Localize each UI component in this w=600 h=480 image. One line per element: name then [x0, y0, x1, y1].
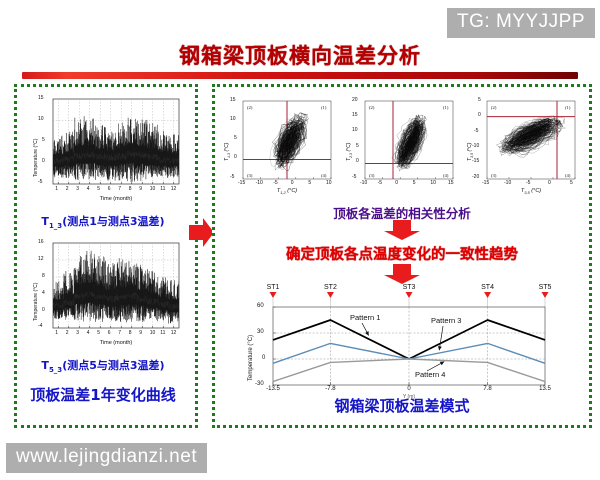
month-tick-10: 10 — [150, 330, 156, 336]
chart1-caption-symbol: T — [41, 215, 49, 228]
month-tick-8: 8 — [129, 186, 132, 192]
scatter3-y-axis-label: T3,5 (°C) — [467, 143, 474, 161]
scatter2-ytick-neg5: -5 — [352, 174, 356, 180]
annotation-pattern-3: Pattern 3 — [431, 316, 461, 325]
svg-text:(2): (2) — [491, 105, 497, 110]
xtick--5: -5 — [378, 180, 382, 186]
scatter1-x-tick-labels: -15-10-50510 — [243, 180, 331, 188]
left-panel-caption: 顶板温差1年变化曲线 — [17, 384, 189, 405]
pattern-xtick-0: 0 — [401, 386, 417, 392]
svg-text:(2): (2) — [247, 105, 253, 110]
pattern-xtick--13.5: -13.5 — [265, 386, 281, 392]
scatter3-ytick-neg5: -5 — [474, 128, 478, 134]
chart1-ytick-15: 15 — [38, 95, 44, 101]
month-tick-5: 5 — [97, 186, 100, 192]
chart1-caption-subscript: 1_3 — [49, 222, 62, 230]
scatter3-x-tick-labels: -15-10-505 — [487, 180, 575, 188]
annotation-pattern-4: Pattern 4 — [415, 370, 445, 379]
pattern-chart-svg: ST1ST2ST3ST4ST5 Pattern 1Pattern 3Patter… — [235, 279, 575, 401]
sensor-marker-icon-st1 — [270, 292, 277, 298]
sensor-label-st3: ST3 — [403, 284, 416, 291]
month-tick-2: 2 — [66, 186, 69, 192]
watermark-telegram: TG: MYYJJPP — [447, 8, 595, 38]
month-tick-7: 7 — [118, 330, 121, 336]
page-title: 钢箱梁顶板横向温差分析 — [0, 40, 600, 70]
timeseries-chart-2: 16 12 8 4 0 -4 Temperature (°C) Time (mo… — [21, 235, 189, 357]
sensor-label-st5: ST5 — [539, 284, 552, 291]
pattern-xtick-13.5: 13.5 — [537, 386, 553, 392]
chart2-ytick-neg4: -4 — [38, 323, 42, 329]
conclusion-text: 确定顶板各点温度变化的一致性趋势 — [215, 243, 589, 264]
sensor-marker-icon-st4 — [484, 292, 491, 298]
pattern-y-axis-label: Temperature (°C) — [248, 335, 254, 381]
chart1-y-axis-label: Temperature (°C) — [33, 139, 39, 177]
chart2-ytick-12: 12 — [38, 256, 44, 262]
chart1-x-tick-labels: 123456789101112 — [53, 186, 179, 195]
pattern-xtick--7.8: -7.8 — [322, 386, 338, 392]
sensor-label-st4: ST4 — [481, 284, 494, 291]
watermark-url: www.lejingdianzi.net — [6, 443, 207, 473]
scatter1-ytick-0: 0 — [234, 154, 237, 160]
chart2-x-axis-label: Time (month) — [53, 340, 179, 346]
scatter1-y-axis-label: T1,3 (°C) — [224, 143, 231, 161]
chart2-caption: T5_3(测点5与测点3温差) — [17, 357, 189, 374]
xtick-0: 0 — [548, 180, 551, 186]
scatter3-x-axis-label: T3,5 (°C) — [487, 188, 575, 195]
xtick--10: -10 — [360, 180, 367, 186]
svg-text:(3): (3) — [491, 173, 497, 178]
chart2-ytick-8: 8 — [42, 273, 45, 279]
sensor-marker-icon-st3 — [406, 292, 413, 298]
month-tick-6: 6 — [108, 330, 111, 336]
xtick-0: 0 — [395, 180, 398, 186]
right-panel-caption: 钢箱梁顶板温差模式 — [215, 395, 589, 416]
chart2-ytick-0: 0 — [42, 307, 45, 313]
month-tick-5: 5 — [97, 330, 100, 336]
sensor-marker-icon-st2 — [327, 292, 334, 298]
scatter-plot-3: (2) (1) (3) (4) 5 0 -5 -10 -15 -20 T3,5 … — [459, 93, 585, 197]
scatter1-x-axis-label: T1,2 (°C) — [243, 188, 331, 195]
chart1-ytick-0: 0 — [42, 158, 45, 164]
svg-text:(2): (2) — [369, 105, 375, 110]
month-tick-4: 4 — [87, 186, 90, 192]
pattern-ytick-0: 0 — [262, 355, 265, 361]
xtick-0: 0 — [291, 180, 294, 186]
chart1-x-axis-label: Time (month) — [53, 196, 179, 202]
month-tick-10: 10 — [150, 186, 156, 192]
flow-arrow-right-icon — [187, 216, 215, 250]
chart1-ytick-5: 5 — [42, 137, 45, 143]
month-tick-6: 6 — [108, 186, 111, 192]
svg-text:(1): (1) — [565, 105, 571, 110]
chart2-ytick-16: 16 — [38, 239, 44, 245]
xtick--10: -10 — [256, 180, 263, 186]
month-tick-8: 8 — [129, 330, 132, 336]
month-tick-9: 9 — [139, 186, 142, 192]
month-tick-3: 3 — [76, 330, 79, 336]
chart1-ytick-10: 10 — [38, 116, 44, 122]
xtick-10: 10 — [430, 180, 436, 186]
xtick-15: 15 — [448, 180, 454, 186]
month-tick-3: 3 — [76, 186, 79, 192]
right-panel: (2) (1) (3) (4) 15 10 5 0 -5 T1,3 (°C) -… — [212, 84, 592, 428]
left-panel: 15 10 5 0 -5 Temperature (°C) Time (mont… — [14, 84, 198, 428]
month-tick-11: 11 — [160, 186, 165, 192]
xtick--5: -5 — [273, 180, 277, 186]
scatter3-ytick-0: 0 — [478, 112, 481, 118]
xtick-5: 5 — [413, 180, 416, 186]
timeseries-chart-1: 15 10 5 0 -5 Temperature (°C) Time (mont… — [21, 91, 189, 213]
svg-text:(4): (4) — [565, 173, 571, 178]
scatter2-ytick-0: 0 — [356, 158, 359, 164]
month-tick-12: 12 — [171, 330, 177, 336]
sensor-label-st2: ST2 — [324, 284, 337, 291]
sensor-label-st1: ST1 — [267, 284, 280, 291]
svg-text:(3): (3) — [369, 173, 375, 178]
pattern-ytick-60: 60 — [257, 303, 264, 309]
scatter1-ytick-neg5: -5 — [230, 174, 234, 180]
month-tick-12: 12 — [171, 186, 177, 192]
scatter2-x-tick-labels: -10-5051015 — [365, 180, 453, 188]
scatter1-ytick-5: 5 — [234, 135, 237, 141]
chart2-caption-symbol: T — [41, 359, 49, 372]
chart2-ytick-4: 4 — [42, 290, 45, 296]
xtick--15: -15 — [482, 180, 489, 186]
chart2-x-tick-labels: 123456789101112 — [53, 330, 179, 339]
month-tick-2: 2 — [66, 330, 69, 336]
month-tick-4: 4 — [87, 330, 90, 336]
scatter3-ytick-neg20: -20 — [472, 174, 479, 180]
flow-arrow-down-icon-1 — [382, 219, 422, 241]
xtick-5: 5 — [570, 180, 573, 186]
scatter2-y-axis-label: T2,3 (°C) — [346, 143, 353, 161]
pattern-xtick-7.8: 7.8 — [480, 386, 496, 392]
scatter-plot-1: (2) (1) (3) (4) 15 10 5 0 -5 T1,3 (°C) -… — [215, 93, 339, 197]
month-tick-9: 9 — [139, 330, 142, 336]
pattern-chart: ST1ST2ST3ST4ST5 Pattern 1Pattern 3Patter… — [235, 279, 575, 401]
svg-text:(1): (1) — [321, 105, 327, 110]
scatter3-ytick-5: 5 — [478, 97, 481, 103]
chart2-caption-subscript: 5_3 — [49, 366, 62, 374]
month-tick-7: 7 — [118, 186, 121, 192]
slide-root: TG: MYYJJPP www.lejingdianzi.net 钢箱梁顶板横向… — [0, 0, 600, 480]
xtick--5: -5 — [526, 180, 530, 186]
chart1-caption-text: (测点1与测点3温差) — [62, 215, 164, 228]
xtick--10: -10 — [504, 180, 511, 186]
svg-text:(4): (4) — [443, 173, 449, 178]
sensor-marker-icon-st5 — [542, 292, 549, 298]
chart2-y-axis-label: Temperature (°C) — [33, 283, 39, 321]
chart1-caption: T1_3(测点1与测点3温差) — [17, 213, 189, 230]
scatter2-ytick-5: 5 — [356, 143, 359, 149]
svg-text:(4): (4) — [321, 173, 327, 178]
pattern-ytick-neg30: -30 — [255, 381, 264, 387]
month-tick-1: 1 — [55, 330, 58, 336]
scatter1-ytick-10: 10 — [230, 116, 236, 122]
scatter2-ytick-15: 15 — [352, 112, 358, 118]
month-tick-11: 11 — [160, 330, 165, 336]
chart1-ytick-neg5: -5 — [38, 179, 42, 185]
title-underline-bar — [22, 72, 578, 79]
xtick--15: -15 — [238, 180, 245, 186]
svg-text:(1): (1) — [443, 105, 449, 110]
month-tick-1: 1 — [55, 186, 58, 192]
xtick-5: 5 — [308, 180, 311, 186]
xtick-10: 10 — [326, 180, 332, 186]
svg-text:(3): (3) — [247, 173, 253, 178]
scatter1-ytick-15: 15 — [230, 97, 236, 103]
chart2-caption-text: (测点5与测点3温差) — [62, 359, 164, 372]
scatter2-ytick-10: 10 — [352, 127, 358, 133]
scatter-plot-2: (2) (1) (3) (4) 20 15 10 5 0 -5 T2,3 (°C… — [337, 93, 461, 197]
annotation-pattern-1: Pattern 1 — [350, 313, 380, 322]
scatter2-ytick-20: 20 — [352, 97, 358, 103]
pattern-ytick-30: 30 — [257, 329, 264, 335]
